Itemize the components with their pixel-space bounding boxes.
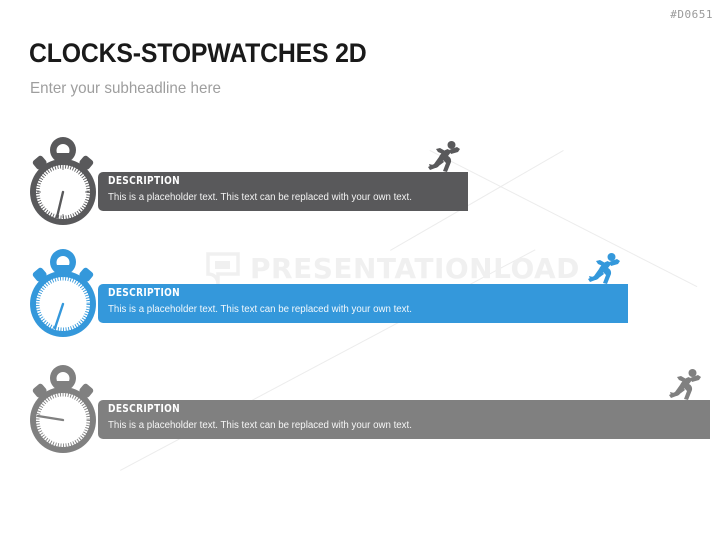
document-id: #D0651: [670, 8, 713, 21]
slide-canvas: PRESENTATIONLOAD #D0651 CLOCKS-STOPWATCH…: [0, 0, 727, 545]
bar-heading: DESCRIPTION: [108, 174, 365, 188]
watermark-text: PRESENTATIONLOAD: [250, 255, 580, 283]
bar-body-text: This is a placeholder text. This text ca…: [108, 191, 412, 205]
stopwatch-icon[interactable]: [22, 247, 104, 342]
bar-body-text: This is a placeholder text. This text ca…: [108, 419, 412, 433]
runner-icon: [424, 140, 464, 179]
stopwatch-icon[interactable]: [22, 363, 104, 458]
bar-body-text: This is a placeholder text. This text ca…: [108, 303, 412, 317]
bar-heading: DESCRIPTION: [108, 286, 365, 300]
page-title: CLOCKS-STOPWATCHES 2D: [29, 38, 366, 69]
page-subtitle[interactable]: Enter your subheadline here: [30, 80, 221, 98]
bar-heading: DESCRIPTION: [108, 402, 365, 416]
description-bar[interactable]: DESCRIPTION This is a placeholder text. …: [98, 284, 628, 323]
stopwatch-icon[interactable]: [22, 135, 104, 230]
diagonal-guide-line: [430, 150, 698, 287]
speech-bubble-icon: [206, 252, 240, 286]
description-bar[interactable]: DESCRIPTION This is a placeholder text. …: [98, 172, 468, 211]
runner-icon: [665, 368, 705, 407]
watermark: PRESENTATIONLOAD: [206, 252, 580, 286]
runner-icon: [584, 252, 624, 291]
description-bar[interactable]: DESCRIPTION This is a placeholder text. …: [98, 400, 710, 439]
